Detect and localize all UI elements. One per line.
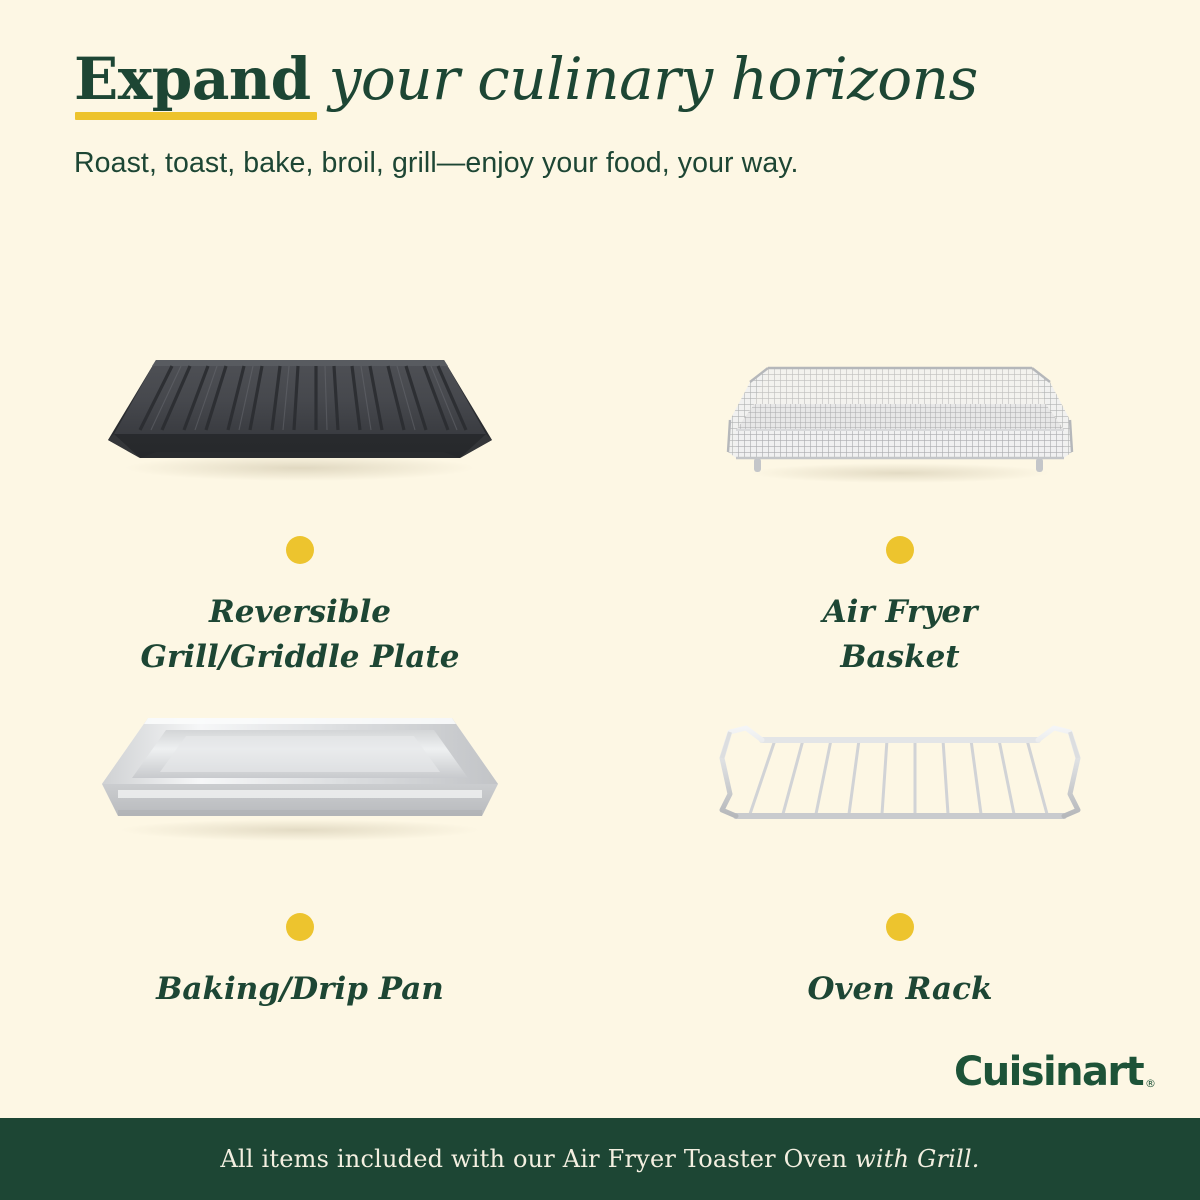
page-title: Expand your culinary horizons xyxy=(74,48,1134,113)
accessory-item-grill-griddle-plate: Reversible Grill/Griddle Plate xyxy=(0,330,600,680)
accessory-item-baking-drip-pan: Baking/Drip Pan xyxy=(0,680,600,1030)
bullet-dot xyxy=(886,913,914,941)
bullet-dot xyxy=(886,536,914,564)
air-fryer-basket-image xyxy=(685,330,1115,494)
accessory-item-air-fryer-basket: Air Fryer Basket xyxy=(600,330,1200,680)
footer-note: All items included with our Air Fryer To… xyxy=(220,1145,979,1173)
footer-bar: All items included with our Air Fryer To… xyxy=(0,1118,1200,1200)
page-subtitle: Roast, toast, bake, broil, grill—enjoy y… xyxy=(74,113,1134,180)
accessories-grid: Reversible Grill/Griddle Plate xyxy=(0,330,1200,1030)
header: Expand your culinary horizons Roast, toa… xyxy=(74,48,1134,180)
bullet-dot xyxy=(286,536,314,564)
promo-page: Expand your culinary horizons Roast, toa… xyxy=(0,0,1200,1200)
bullet-dot xyxy=(286,913,314,941)
headline-emphasis: Expand xyxy=(74,48,311,113)
accessory-label: Oven Rack xyxy=(808,967,993,1012)
registered-trademark-icon: ® xyxy=(1145,1078,1156,1089)
oven-rack-image xyxy=(685,680,1115,865)
accessory-label: Air Fryer Basket xyxy=(823,590,978,680)
footer-note-plain: All items included with our Air Fryer To… xyxy=(220,1145,855,1173)
cuisinart-logo: Cuisinart ® xyxy=(954,1052,1156,1092)
accessory-label: Baking/Drip Pan xyxy=(156,967,444,1012)
brand-wordmark: Cuisinart xyxy=(954,1052,1143,1092)
accessory-item-oven-rack: Oven Rack xyxy=(600,680,1200,1030)
headline-rest: your culinary horizons xyxy=(311,45,978,113)
grill-griddle-plate-image xyxy=(85,330,515,494)
footer-note-italic: with Grill. xyxy=(855,1145,979,1173)
baking-drip-pan-image xyxy=(85,680,515,865)
accessory-label: Reversible Grill/Griddle Plate xyxy=(141,590,460,680)
